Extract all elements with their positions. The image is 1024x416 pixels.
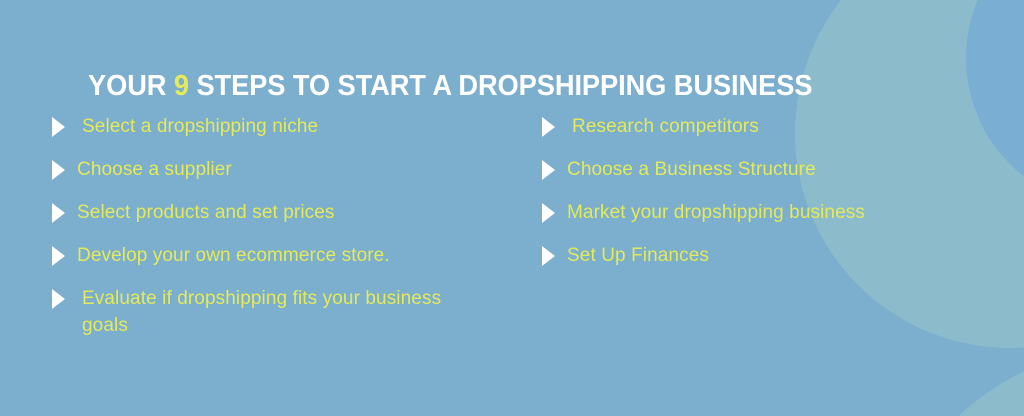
triangle-right-icon bbox=[542, 117, 558, 137]
step-label: Choose a supplier bbox=[77, 156, 232, 183]
step-label: Select products and set prices bbox=[77, 199, 335, 226]
list-item: Choose a Business Structure bbox=[542, 156, 1012, 189]
list-item: Select products and set prices bbox=[52, 199, 522, 232]
list-item: Choose a supplier bbox=[52, 156, 522, 189]
triangle-right-icon bbox=[52, 203, 68, 223]
list-item: Set Up Finances bbox=[542, 242, 1012, 275]
step-label: Research competitors bbox=[567, 113, 759, 140]
step-label: Choose a Business Structure bbox=[567, 156, 816, 183]
step-label: Set Up Finances bbox=[567, 242, 709, 269]
steps-left-column: Select a dropshipping niche Choose a sup… bbox=[52, 113, 522, 349]
list-item: Develop your own ecommerce store. bbox=[52, 242, 522, 275]
step-label: Market your dropshipping business bbox=[567, 199, 865, 226]
list-item: Research competitors bbox=[542, 113, 1012, 146]
infographic-content: YOUR 9 STEPS TO START A DROPSHIPPING BUS… bbox=[0, 0, 1024, 416]
triangle-right-icon bbox=[52, 117, 68, 137]
step-label: Evaluate if dropshipping fits your busin… bbox=[77, 285, 482, 339]
triangle-right-icon bbox=[542, 160, 558, 180]
list-item: Market your dropshipping business bbox=[542, 199, 1012, 232]
list-item: Evaluate if dropshipping fits your busin… bbox=[52, 285, 522, 339]
triangle-right-icon bbox=[52, 289, 68, 309]
triangle-right-icon bbox=[52, 160, 68, 180]
steps-right-column: Research competitors Choose a Business S… bbox=[542, 113, 1012, 285]
list-item: Select a dropshipping niche bbox=[52, 113, 522, 146]
title-prefix: YOUR bbox=[88, 70, 166, 102]
triangle-right-icon bbox=[542, 203, 558, 223]
step-label: Develop your own ecommerce store. bbox=[77, 242, 390, 269]
infographic-canvas: YOUR 9 STEPS TO START A DROPSHIPPING BUS… bbox=[0, 0, 1024, 416]
triangle-right-icon bbox=[542, 246, 558, 266]
page-title: YOUR 9 STEPS TO START A DROPSHIPPING BUS… bbox=[88, 69, 812, 103]
step-label: Select a dropshipping niche bbox=[77, 113, 318, 140]
title-suffix: STEPS TO START A DROPSHIPPING BUSINESS bbox=[196, 70, 812, 102]
title-number-accent: 9 bbox=[174, 70, 189, 102]
triangle-right-icon bbox=[52, 246, 68, 266]
